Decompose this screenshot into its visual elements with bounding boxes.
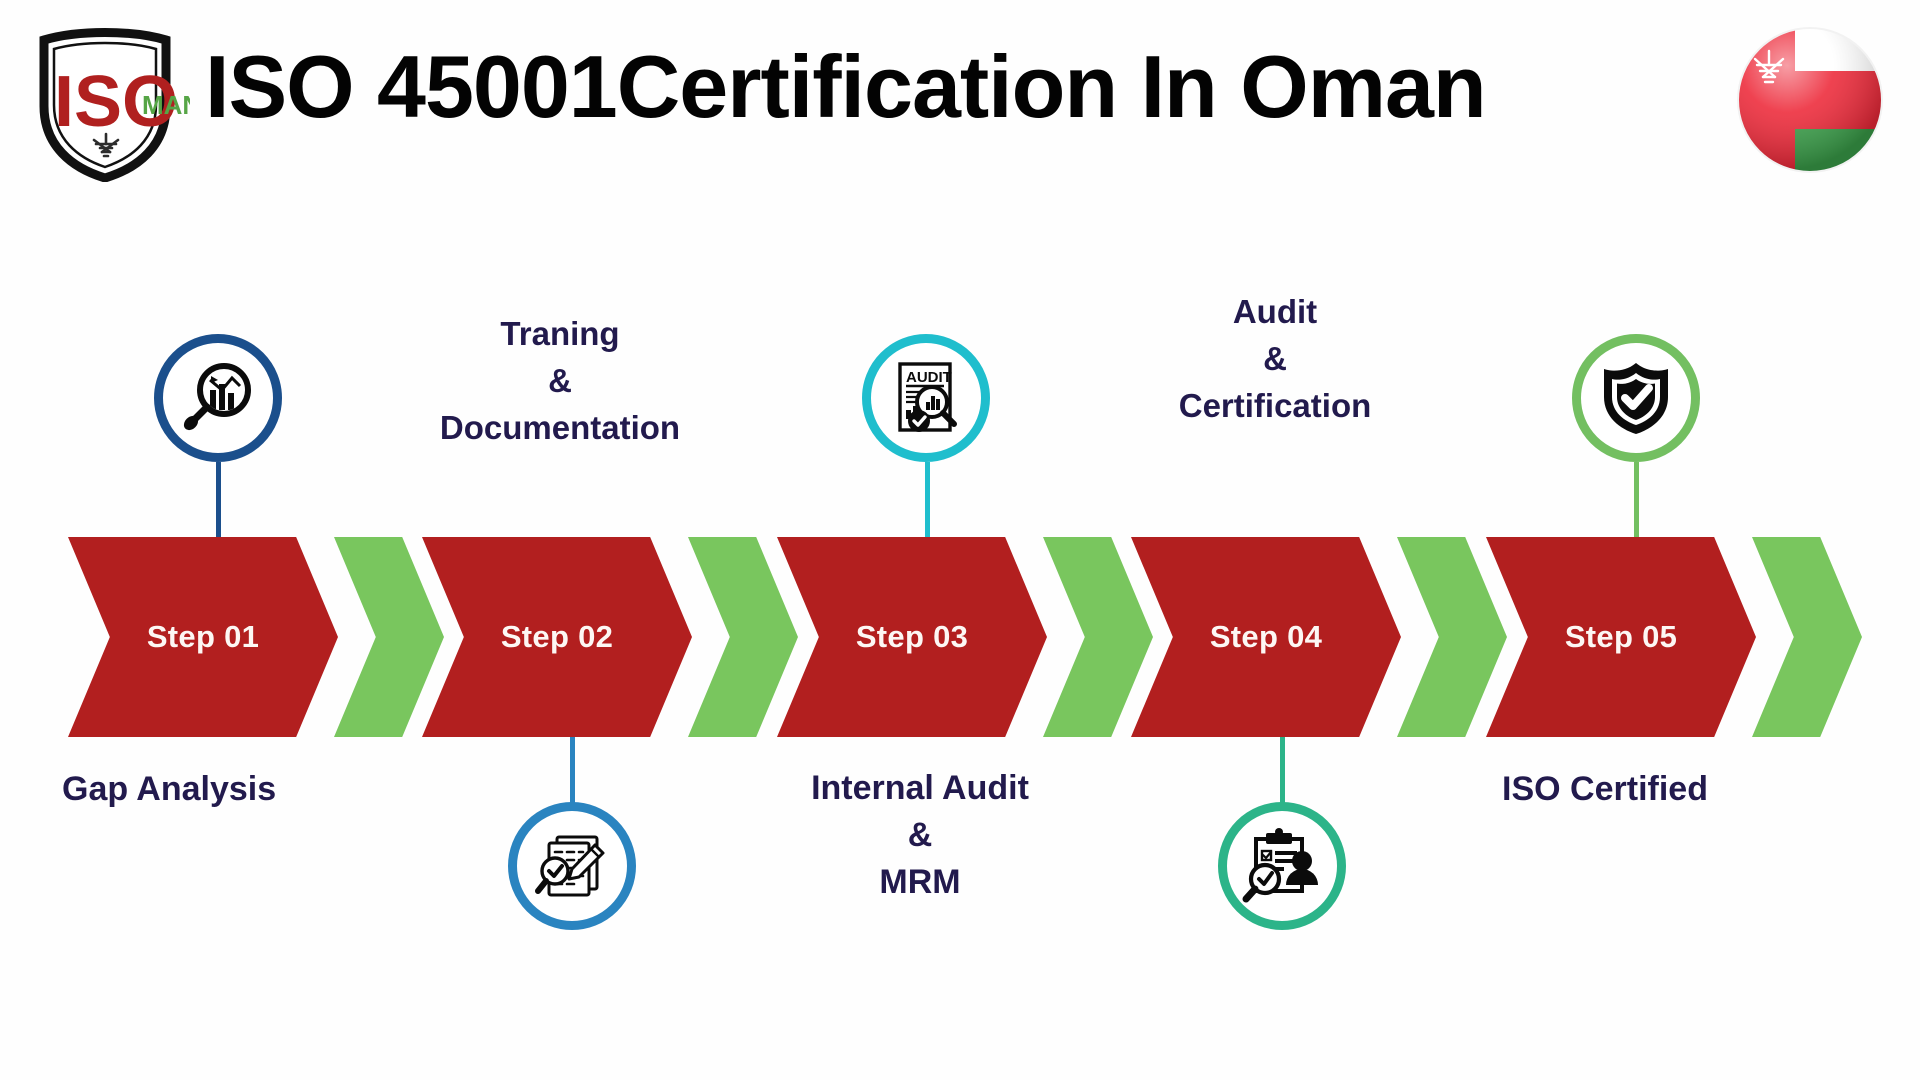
chevron-separator-5 [1752,537,1862,737]
chevron-separator-3 [1043,537,1153,737]
chevron-step-4[interactable] [1131,537,1401,737]
step-2-icon-circle[interactable] [508,802,636,930]
step-1-caption: Gap Analysis [62,765,362,813]
step-3-caption: Internal Audit & MRM [760,765,1080,906]
chevron-step-5[interactable] [1486,537,1756,737]
logo-secondary-text: MAN [142,90,190,120]
step-3-icon-circle[interactable]: AUDIT [862,334,990,462]
isoman-shield-logo: ISO MAN [30,22,190,182]
magnifier-bar-chart-icon [180,360,256,436]
audit-report-magnifier-icon: AUDIT [888,358,964,438]
shield-check-icon [1598,359,1674,437]
page-title: ISO 45001Certification In Oman [205,28,1486,146]
chevron-separator-4 [1397,537,1507,737]
step-1-icon-circle[interactable] [154,334,282,462]
step-2-caption: Traning & Documentation [400,310,720,451]
step-5-caption: ISO Certified [1455,765,1755,813]
oman-flag-badge [1735,25,1885,175]
chevron-step-1[interactable] [68,537,338,737]
audit-icon-text: AUDIT [906,369,952,386]
chevron-step-3[interactable] [777,537,1047,737]
process-chevron-band: Step 01 Step 02 Step 03 Step 04 Step 05 [0,537,1920,737]
chevron-step-2[interactable] [422,537,692,737]
step-4-icon-circle[interactable] [1218,802,1346,930]
document-pencil-check-icon [533,827,611,905]
step-4-caption: Audit & Certification [1115,288,1435,429]
chevron-separator-2 [688,537,798,737]
step-5-icon-circle[interactable] [1572,334,1700,462]
page-header: ISO MAN ISO 45001Certification In Oman [0,0,1920,200]
clipboard-person-check-icon [1242,827,1322,905]
chevron-separator-1 [334,537,444,737]
